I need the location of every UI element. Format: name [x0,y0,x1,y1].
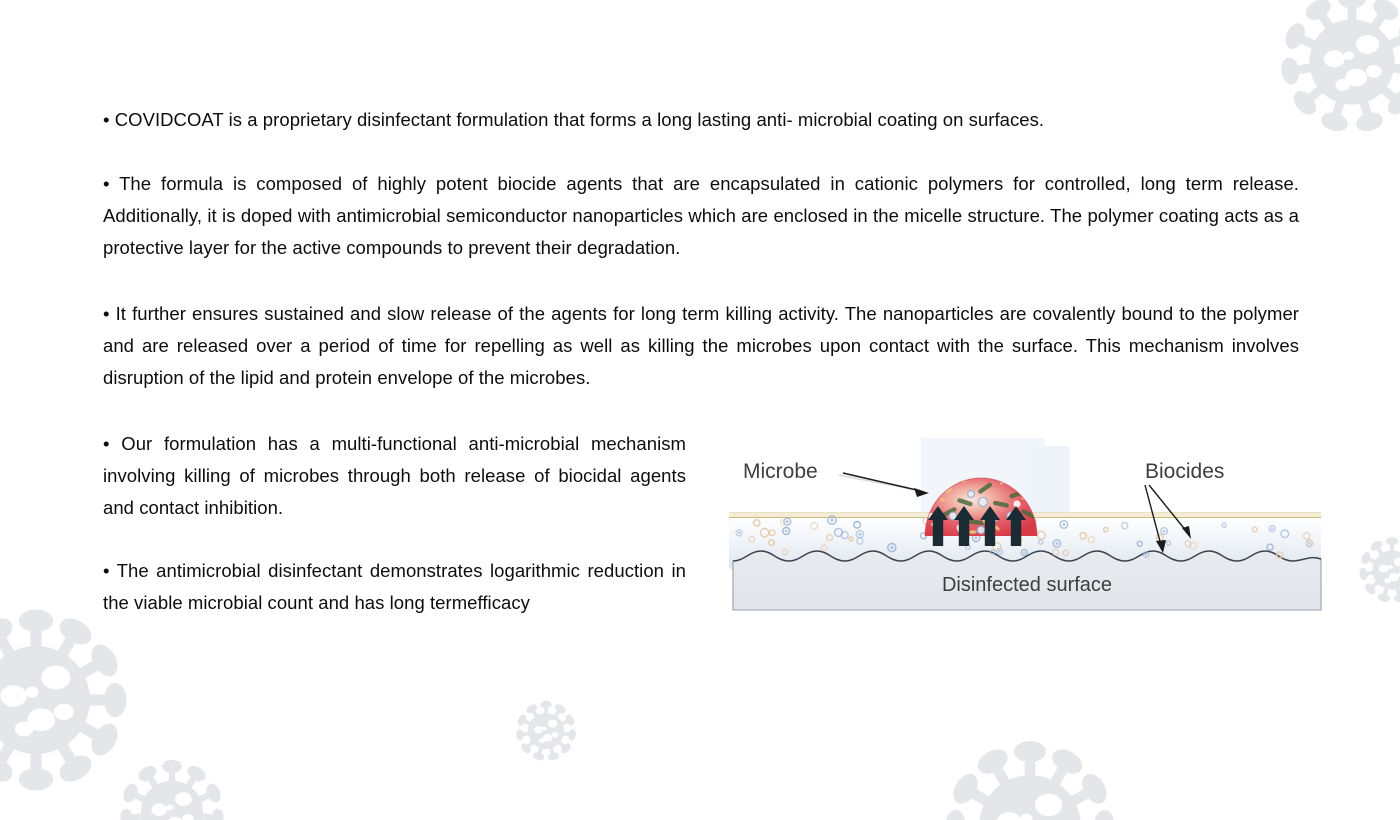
diagram-svg: Microbe Biocides Disinfected surface [725,428,1325,618]
bullet-paragraph-1: • COVIDCOAT is a proprietary disinfectan… [103,104,1299,136]
antimicrobial-surface-diagram: Microbe Biocides Disinfected surface [725,428,1325,618]
biocides-label: Biocides [1145,460,1224,483]
slide-canvas: • COVIDCOAT is a proprietary disinfectan… [0,0,1400,820]
slide-text-content: • COVIDCOAT is a proprietary disinfectan… [0,0,1400,820]
bullet-paragraph-2: • The formula is composed of highly pote… [103,168,1299,265]
bullet-paragraph-3: • It further ensures sustained and slow … [103,298,1299,395]
microbe-label: Microbe [743,460,818,483]
disinfected-surface-label: Disinfected surface [942,574,1112,596]
bullet-paragraph-4: • Our formulation has a multi-functional… [103,428,686,525]
bullet-paragraph-5: • The antimicrobial disinfectant demonst… [103,555,686,620]
